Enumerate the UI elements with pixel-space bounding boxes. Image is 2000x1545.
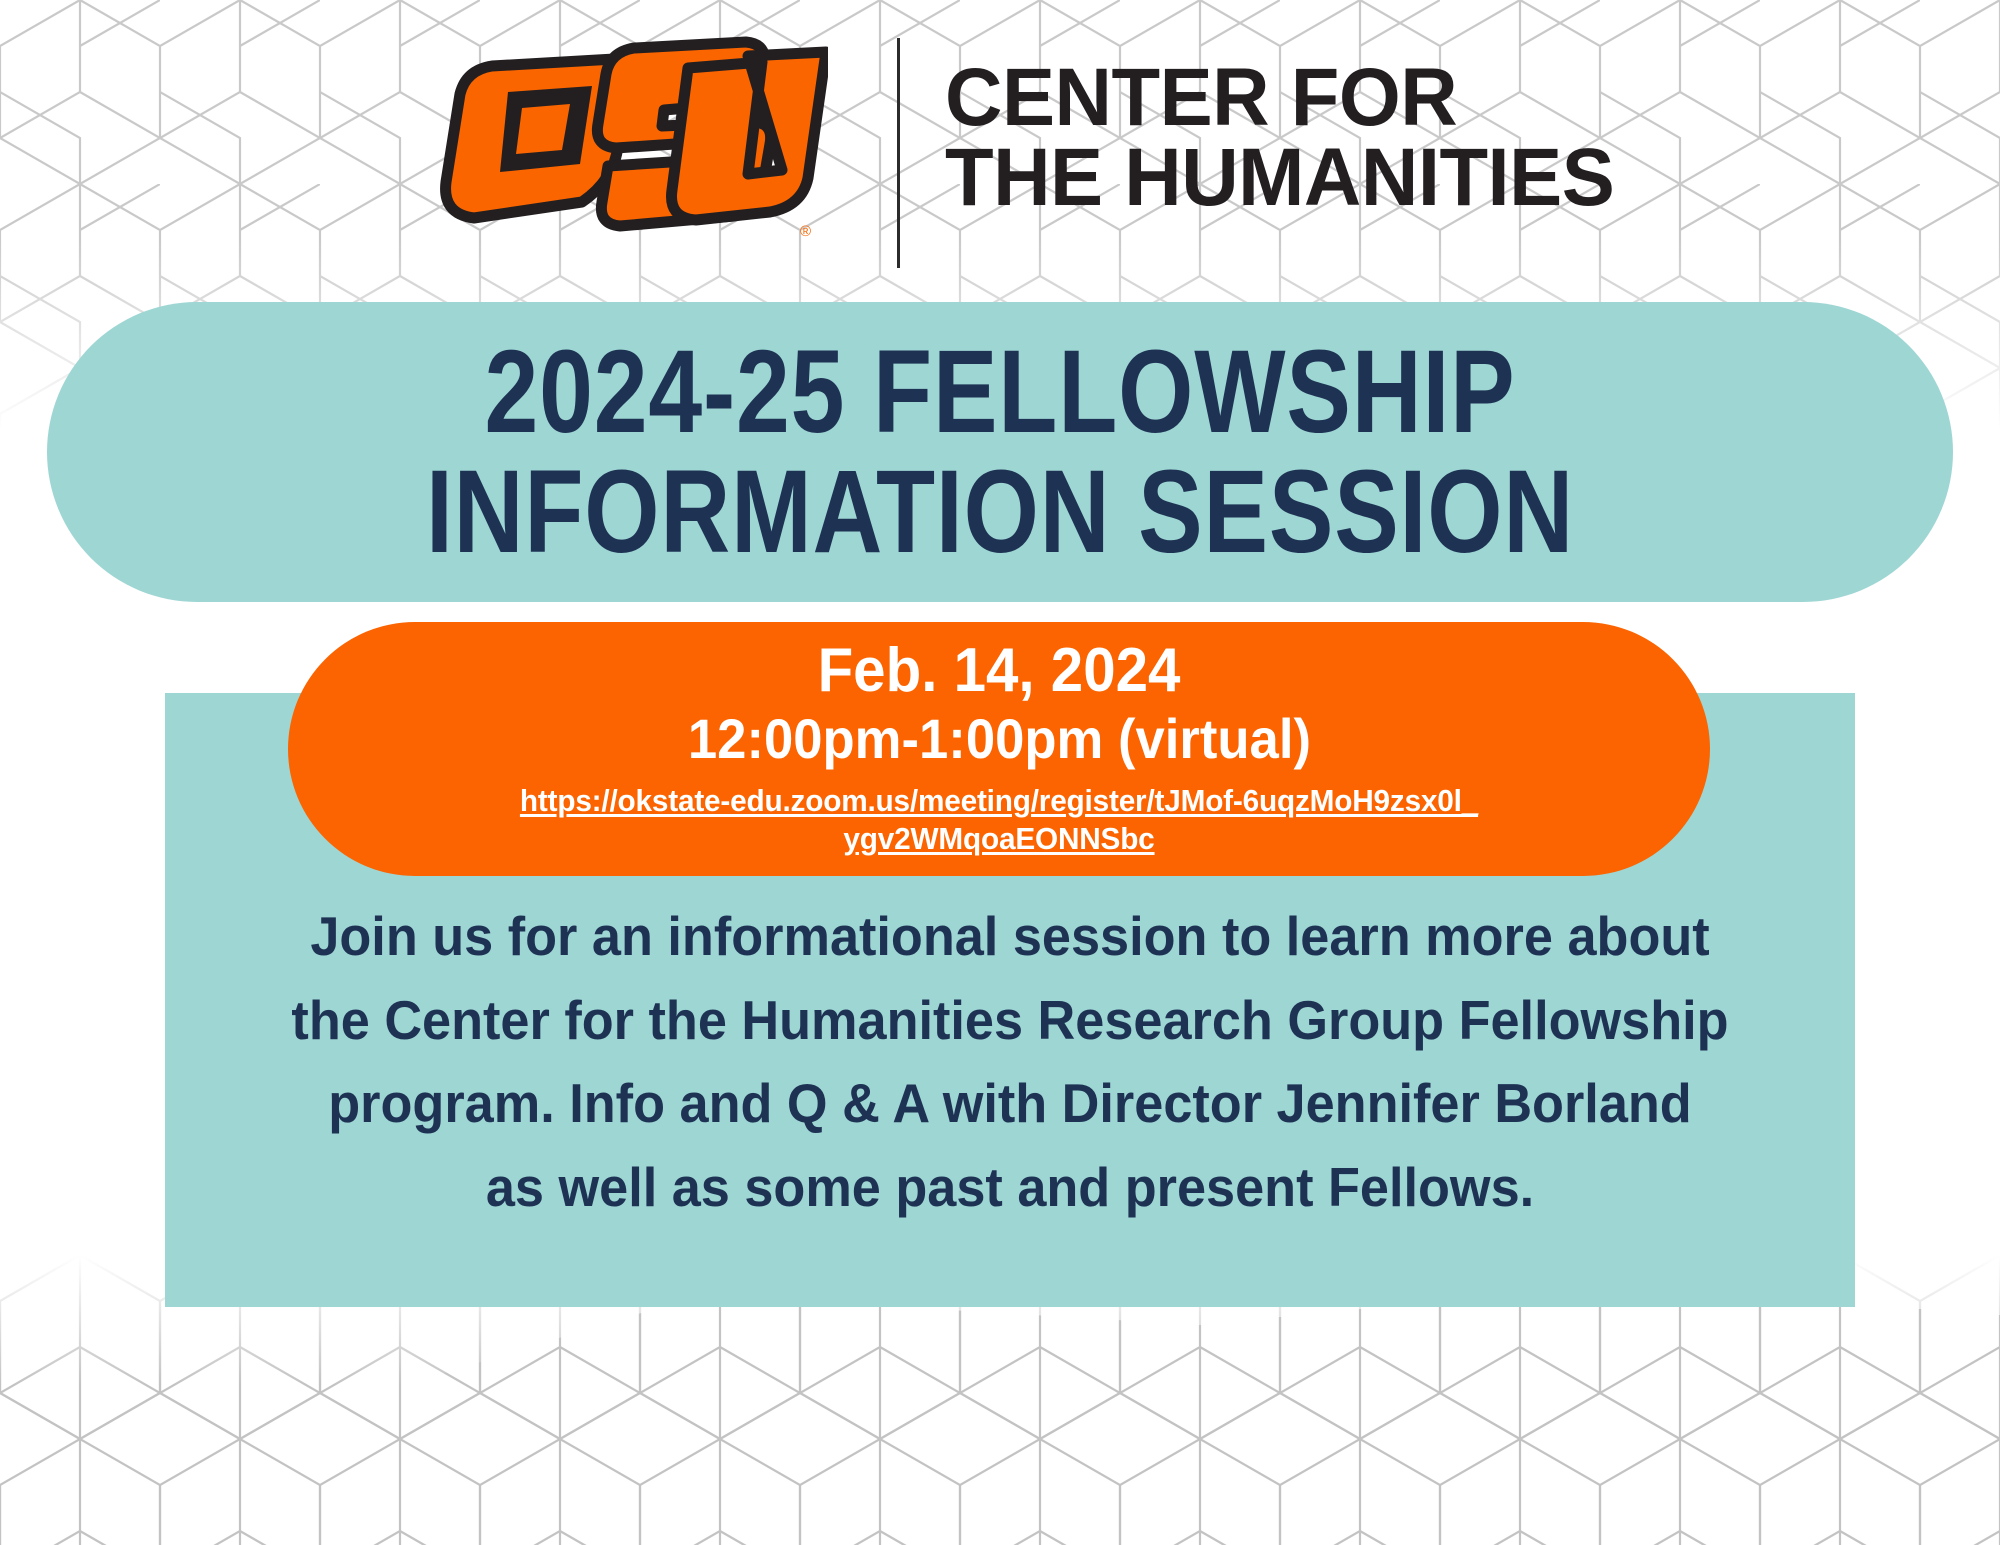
event-description: Join us for an informational session to … (236, 895, 1785, 1229)
title-line-2: INFORMATION SESSION (426, 452, 1574, 572)
registered-trademark-mark: ® (800, 223, 811, 240)
registration-link[interactable]: https://okstate-edu.zoom.us/meeting/regi… (519, 782, 1479, 858)
osu-logo-icon: ® (396, 30, 828, 248)
event-time: 12:00pm-1:00pm (virtual) (687, 707, 1310, 771)
fellowship-info-session-flyer: ® CENTER FOR THE HUMANITIES 2024-25 FELL… (0, 0, 2000, 1545)
event-date: Feb. 14, 2024 (818, 636, 1181, 705)
page-title: 2024-25 FELLOWSHIP INFORMATION SESSION (219, 300, 1782, 604)
title-line-1: 2024-25 FELLOWSHIP (484, 332, 1515, 452)
event-details: Feb. 14, 2024 12:00pm-1:00pm (virtual) h… (288, 622, 1710, 876)
brand-header: ® CENTER FOR THE HUMANITIES (0, 0, 2000, 280)
center-for-the-humanities-wordmark: CENTER FOR THE HUMANITIES (945, 58, 1614, 219)
header-divider (897, 38, 900, 268)
